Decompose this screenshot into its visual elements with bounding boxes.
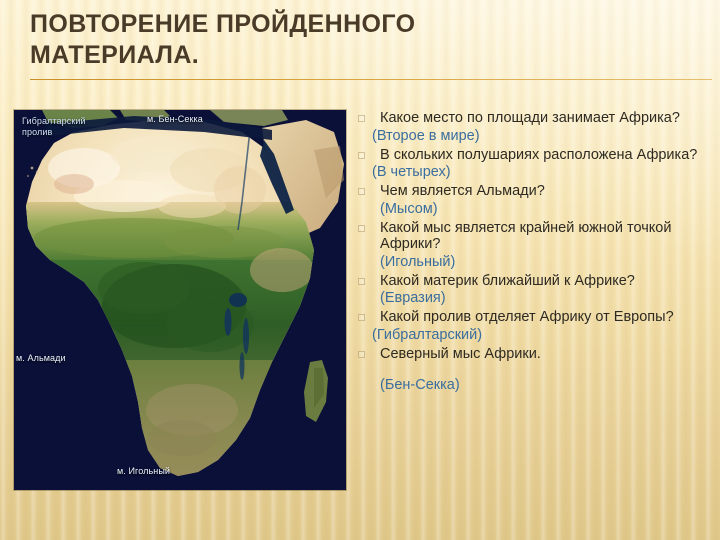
map-label-cape-almadi: м. Альмади bbox=[16, 353, 66, 364]
map-label-cape-agulhas: м. Игольный bbox=[117, 466, 170, 477]
slide-title: ПОВТОРЕНИЕ ПРОЙДЕННОГО МАТЕРИАЛА. bbox=[30, 9, 590, 71]
question-answer-list: Какое место по площади занимает Африка? … bbox=[358, 110, 716, 530]
bullet-square-icon bbox=[358, 314, 365, 321]
answer-text: (Мысом) bbox=[380, 201, 716, 220]
question-text: Какое место по площади занимает Африка? bbox=[380, 110, 716, 128]
list-item: Какое место по площади занимает Африка? bbox=[358, 110, 716, 128]
question-text: Какой материк ближайший к Африке? bbox=[380, 273, 716, 291]
list-item: Какой пролив отделяет Африку от Европы? bbox=[358, 309, 716, 327]
answer-text: (В четырех) bbox=[372, 164, 716, 183]
africa-map-image: Гибралтарский пролив м. Бен-Секка м. Аль… bbox=[14, 110, 346, 490]
bullet-square-icon bbox=[358, 351, 365, 358]
question-text: Северный мыс Африки. bbox=[380, 346, 716, 364]
bullet-square-icon bbox=[358, 188, 365, 195]
title-divider-rule bbox=[30, 79, 712, 80]
list-item: В скольких полушариях расположена Африка… bbox=[358, 147, 716, 165]
map-label-cape-ben-sekka: м. Бен-Секка bbox=[147, 114, 203, 125]
question-text: Чем является Альмади? bbox=[380, 183, 716, 201]
slide: ПОВТОРЕНИЕ ПРОЙДЕННОГО МАТЕРИАЛА. bbox=[0, 0, 720, 540]
list-item: Какой материк ближайший к Африке? bbox=[358, 273, 716, 291]
list-item: Северный мыс Африки. bbox=[358, 346, 716, 364]
answer-text: (Игольный) bbox=[380, 254, 716, 273]
answer-text: (Гибралтарский) bbox=[372, 327, 716, 346]
list-item: Чем является Альмади? bbox=[358, 183, 716, 201]
answer-text: (Евразия) bbox=[380, 290, 716, 309]
bullet-square-icon bbox=[358, 278, 365, 285]
map-label-gibraltar-strait: Гибралтарский пролив bbox=[22, 116, 86, 138]
answer-text: (Бен-Секка) bbox=[380, 377, 716, 396]
africa-satellite-svg bbox=[14, 110, 346, 490]
question-text: В скольких полушариях расположена Африка… bbox=[380, 147, 716, 165]
bullet-square-icon bbox=[358, 115, 365, 122]
bullet-square-icon bbox=[358, 152, 365, 159]
answer-text: (Второе в мире) bbox=[372, 128, 716, 147]
list-item: Какой мыс является крайней южной точкой … bbox=[358, 220, 716, 254]
bullet-square-icon bbox=[358, 225, 365, 232]
question-text: Какой пролив отделяет Африку от Европы? bbox=[380, 309, 716, 327]
question-text: Какой мыс является крайней южной точкой … bbox=[380, 220, 716, 254]
